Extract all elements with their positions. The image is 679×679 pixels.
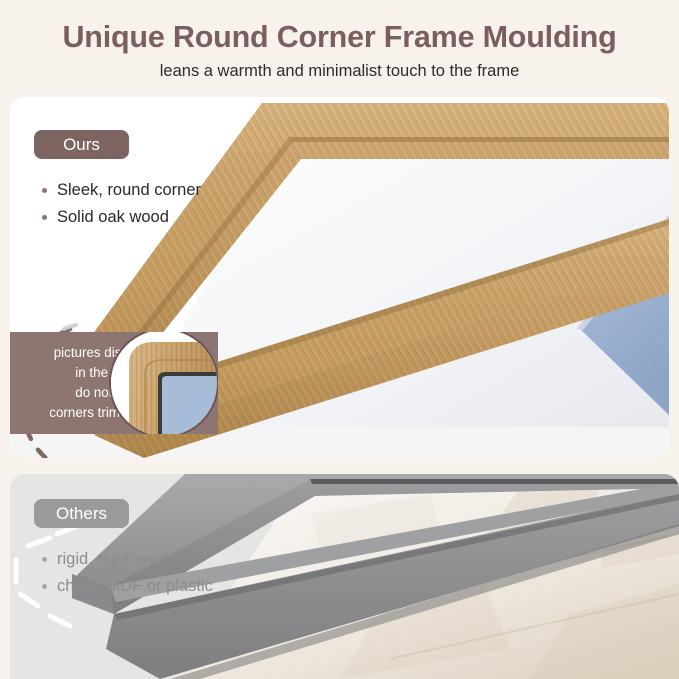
list-item: cheap MDF or plastic (40, 573, 213, 600)
others-bullet-list: rigid, right angels cheap MDF or plastic (40, 546, 213, 600)
list-item: Solid oak wood (40, 204, 201, 231)
callout-box: pictures display in the frame do not nee… (10, 332, 218, 434)
ours-bullet-list: Sleek, round corner Solid oak wood (40, 177, 201, 231)
badge-ours-label: Ours (63, 135, 100, 155)
callout-frame-detail-image (111, 332, 217, 434)
others-panel: Others rigid, right angels cheap MDF or … (10, 474, 679, 679)
header: Unique Round Corner Frame Moulding leans… (0, 0, 679, 92)
list-item: rigid, right angels (40, 546, 213, 573)
list-item: Sleek, round corner (40, 177, 201, 204)
badge-others-label: Others (56, 504, 107, 524)
page-subtitle: leans a warmth and minimalist touch to t… (0, 60, 679, 82)
badge-others: Others (34, 499, 129, 528)
ours-panel: Ours Sleek, round corner Solid oak wood … (10, 97, 669, 458)
page-title: Unique Round Corner Frame Moulding (0, 18, 679, 56)
infographic-page: Unique Round Corner Frame Moulding leans… (0, 0, 679, 679)
callout-inset-circle (109, 332, 218, 434)
badge-ours: Ours (34, 130, 129, 159)
